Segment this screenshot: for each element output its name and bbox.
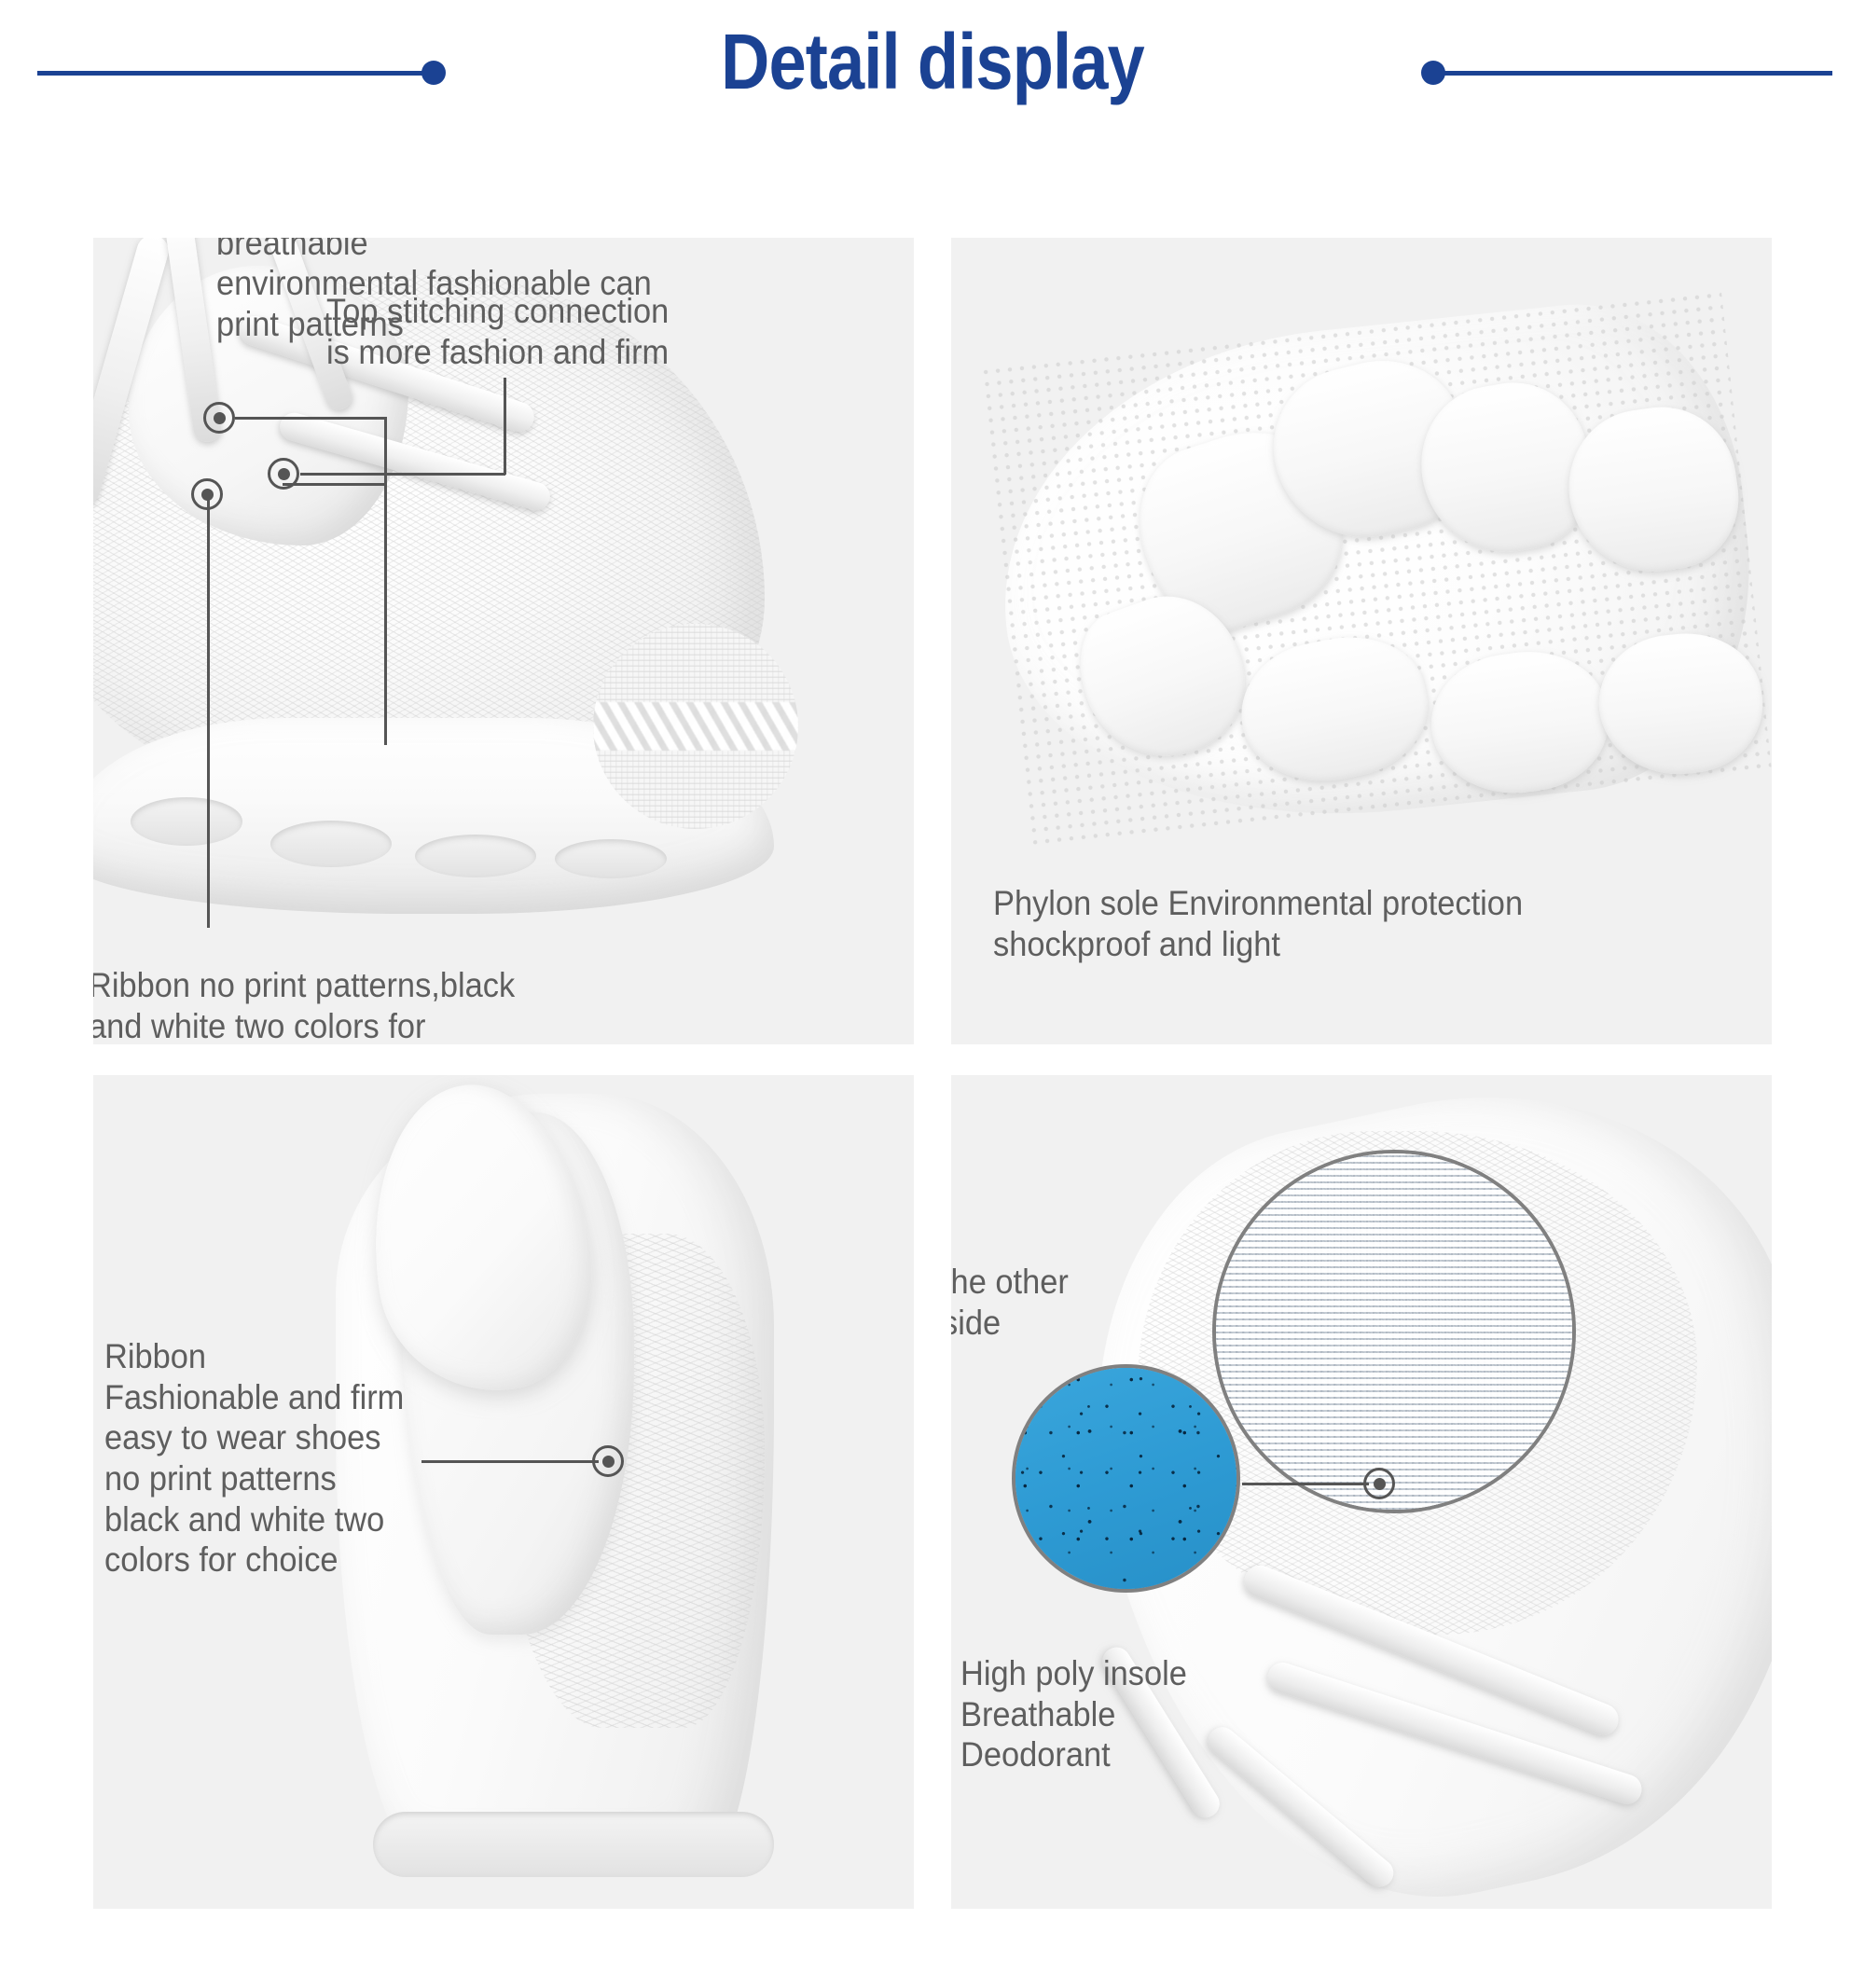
mesh-macro-circle [1212,1150,1576,1513]
page-header: Detail display [0,0,1865,173]
stitching-macro-circle [593,624,798,829]
panel-heel-ribbon: Ribbon Fashionable and firm easy to wear… [93,1075,914,1909]
callout-marker[interactable] [268,458,299,490]
outsole-image [1002,326,1748,811]
marker-dot [278,468,290,480]
page-title: Detail display [131,17,1734,107]
caption-high-poly-insole: High poly insole Breathable Deodorant [960,1653,1290,1775]
panel-upper-mesh: Upper three layer mesh breathable enviro… [93,238,914,1044]
leader-line [207,494,210,928]
panel-phylon-sole: Phylon sole Environmental protection sho… [951,238,1772,1044]
marker-dot [602,1456,615,1468]
callout-marker[interactable] [203,402,235,434]
caption-ribbon-detail: Ribbon Fashionable and firm easy to wear… [104,1336,469,1581]
header-rule-right [1441,71,1832,76]
leader-line [300,473,505,476]
panel-insole: the other side High poly insole Breathab… [951,1075,1772,1909]
marker-dot [1374,1478,1386,1490]
caption-other-side: the other side [951,1262,1141,1343]
caption-top-stitching: Top stitching connection is more fashion… [326,291,682,372]
leader-line [1242,1483,1369,1485]
caption-phylon-sole: Phylon sole Environmental protection sho… [993,883,1548,964]
leader-line [421,1460,599,1463]
insole-macro-circle [1012,1364,1240,1593]
callout-marker[interactable] [191,478,223,510]
leader-line [235,417,386,420]
midsole-slot [270,821,392,867]
heel-sole-edge [373,1812,774,1877]
stitch-texture [593,624,798,829]
marker-dot [201,489,214,501]
marker-dot [214,412,226,424]
midsole-slot [415,835,536,877]
midsole-slot [555,839,667,878]
callout-marker[interactable] [1363,1468,1395,1499]
stitch-seam [593,702,798,752]
insole-macro-texture [1015,1368,1236,1589]
callout-marker[interactable] [592,1445,624,1477]
leader-line [504,378,506,475]
detail-display-page: Detail display [0,0,1865,1988]
mesh-macro-texture [1216,1153,1572,1510]
midsole-slot [131,797,242,846]
leader-line [384,417,387,745]
caption-ribbon-colors: Ribbon no print patterns,black and white… [93,965,522,1044]
